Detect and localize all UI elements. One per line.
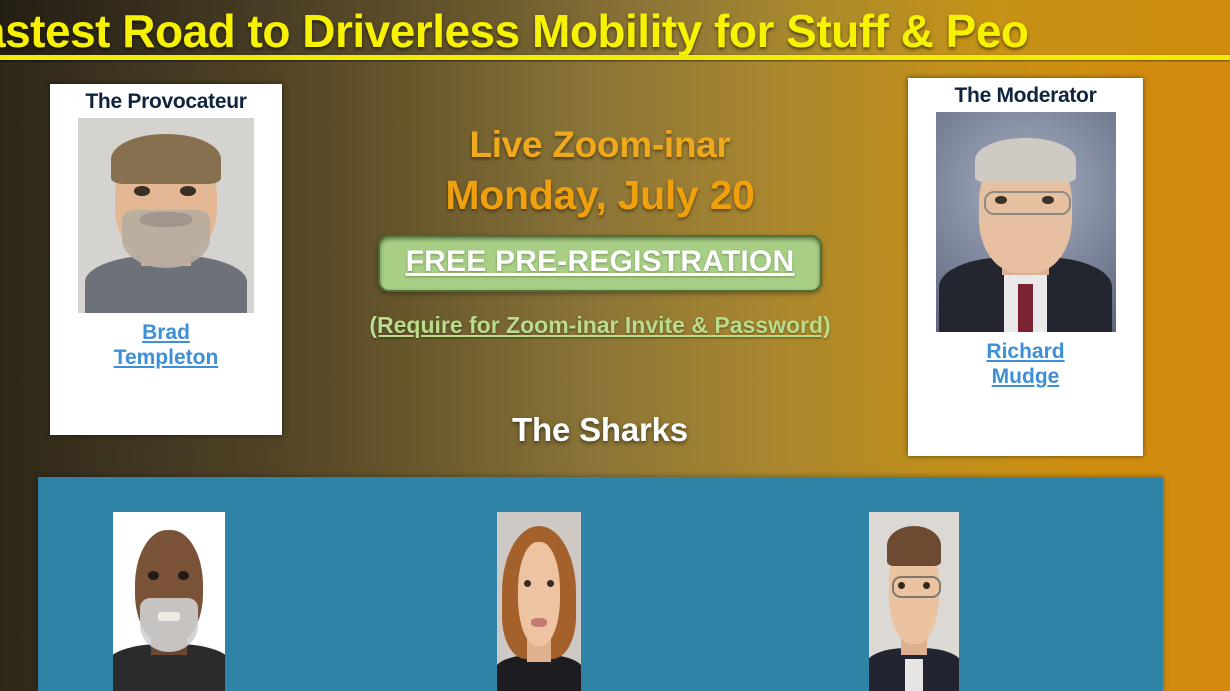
event-date-label: Monday, July 20 — [300, 171, 900, 220]
provocateur-name-line2: Templeton — [114, 346, 219, 369]
moderator-photo — [936, 112, 1116, 332]
free-pre-registration-label: FREE PRE-REGISTRATION — [406, 245, 795, 278]
shark-photo-1 — [113, 512, 225, 691]
moderator-name-line2: Mudge — [992, 365, 1060, 388]
provocateur-photo — [78, 118, 254, 313]
shark-portrait-1 — [113, 512, 225, 691]
title-underline-rule — [0, 55, 1230, 60]
event-format-label: Live Zoom-inar — [300, 124, 900, 165]
sharks-heading: The Sharks — [300, 411, 900, 449]
brad-templeton-portrait — [78, 118, 254, 313]
shark-portrait-3 — [869, 512, 959, 691]
title-banner: astest Road to Driverless Mobility for S… — [0, 0, 1230, 62]
moderator-name-link[interactable]: RichardMudge — [986, 340, 1064, 390]
registration-note-link[interactable]: (Require for Zoom-inar Invite & Password… — [300, 312, 900, 339]
richard-mudge-portrait — [936, 112, 1116, 332]
provocateur-name-line1: Brad — [142, 321, 190, 344]
provocateur-card: The Provocateur BradTempleton — [50, 84, 282, 435]
sharks-panel — [38, 477, 1163, 691]
page-title: astest Road to Driverless Mobility for S… — [0, 4, 1029, 58]
provocateur-role-label: The Provocateur — [53, 91, 279, 113]
free-pre-registration-button[interactable]: FREE PRE-REGISTRATION — [378, 235, 823, 292]
moderator-card: The Moderator RichardMudge — [908, 78, 1143, 456]
shark-photo-2 — [497, 512, 581, 691]
slide-canvas: astest Road to Driverless Mobility for S… — [0, 0, 1230, 691]
provocateur-name-link[interactable]: BradTempleton — [114, 321, 219, 371]
shark-portrait-2 — [497, 512, 581, 691]
moderator-role-label: The Moderator — [911, 85, 1140, 107]
moderator-name-line1: Richard — [986, 340, 1064, 363]
shark-photo-3 — [869, 512, 959, 691]
event-details-column: Live Zoom-inar Monday, July 20 FREE PRE-… — [300, 124, 900, 339]
